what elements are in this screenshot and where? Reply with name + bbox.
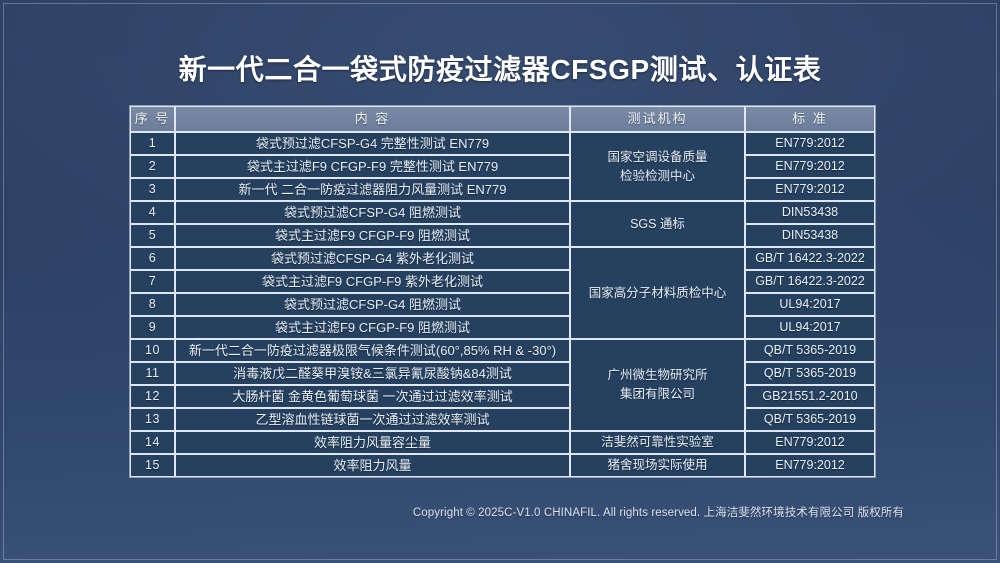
table-row: 14效率阻力风量容尘量洁斐然可靠性实验室EN779:2012 <box>130 431 875 454</box>
cell-test-institution: 猪舍现场实际使用 <box>570 454 745 477</box>
table-row: 5袋式主过滤F9 CFGP-F9 阻燃测试DIN53438 <box>130 224 875 247</box>
table-row: 4袋式预过滤CFSP-G4 阻燃测试SGS 通标DIN53438 <box>130 201 875 224</box>
table-row: 15效率阻力风量猪舍现场实际使用EN779:2012 <box>130 454 875 477</box>
cell-test-content: 袋式主过滤F9 CFGP-F9 紫外老化测试 <box>175 270 570 293</box>
cell-standard: QB/T 5365-2019 <box>745 362 875 385</box>
cell-row-number: 2 <box>130 155 175 178</box>
cell-standard: EN779:2012 <box>745 155 875 178</box>
cell-test-content: 大肠杆菌 金黄色葡萄球菌 一次通过过滤效率测试 <box>175 385 570 408</box>
cell-standard: EN779:2012 <box>745 431 875 454</box>
cell-row-number: 13 <box>130 408 175 431</box>
cell-standard: EN779:2012 <box>745 178 875 201</box>
institution-line-1: 国家高分子材料质检中心 <box>574 284 741 303</box>
cell-standard: EN779:2012 <box>745 132 875 155</box>
column-header-content: 内 容 <box>175 106 570 132</box>
table-row: 6袋式预过滤CFSP-G4 紫外老化测试国家高分子材料质检中心GB/T 1642… <box>130 247 875 270</box>
cell-row-number: 10 <box>130 339 175 362</box>
cell-row-number: 5 <box>130 224 175 247</box>
cell-row-number: 12 <box>130 385 175 408</box>
cell-test-institution: 洁斐然可靠性实验室 <box>570 431 745 454</box>
cell-test-institution: 国家空调设备质量检验检测中心 <box>570 132 745 201</box>
cell-test-content: 袋式预过滤CFSP-G4 阻燃测试 <box>175 201 570 224</box>
cell-row-number: 14 <box>130 431 175 454</box>
table-body: 1袋式预过滤CFSP-G4 完整性测试 EN779国家空调设备质量检验检测中心E… <box>130 132 875 477</box>
cell-test-institution: 国家高分子材料质检中心 <box>570 247 745 339</box>
cell-test-content: 袋式主过滤F9 CFGP-F9 阻燃测试 <box>175 224 570 247</box>
column-header-no: 序 号 <box>130 106 175 132</box>
cell-row-number: 7 <box>130 270 175 293</box>
institution-line-1: SGS 通标 <box>574 215 741 234</box>
table-row: 13乙型溶血性链球菌一次通过过滤效率测试QB/T 5365-2019 <box>130 408 875 431</box>
institution-line-1: 国家空调设备质量 <box>574 148 741 167</box>
cell-row-number: 4 <box>130 201 175 224</box>
cell-row-number: 6 <box>130 247 175 270</box>
cell-standard: QB/T 5365-2019 <box>745 339 875 362</box>
table-row: 2袋式主过滤F9 CFGP-F9 完整性测试 EN779EN779:2012 <box>130 155 875 178</box>
institution-line-1: 猪舍现场实际使用 <box>574 456 741 475</box>
cell-row-number: 15 <box>130 454 175 477</box>
cell-row-number: 8 <box>130 293 175 316</box>
institution-line-2: 检验检测中心 <box>574 167 741 186</box>
cell-test-institution: SGS 通标 <box>570 201 745 247</box>
cell-test-institution: 广州微生物研究所集团有限公司 <box>570 339 745 431</box>
cell-standard: GB/T 16422.3-2022 <box>745 247 875 270</box>
page-title: 新一代二合一袋式防疫过滤器CFSGP测试、认证表 <box>0 48 1000 88</box>
table-row: 10新一代二合一防疫过滤器极限气候条件测试(60°,85% RH & -30°)… <box>130 339 875 362</box>
slide-root: 新一代二合一袋式防疫过滤器CFSGP测试、认证表 序 号 内 容 测试机构 标 … <box>0 0 1000 563</box>
cell-row-number: 9 <box>130 316 175 339</box>
cell-row-number: 11 <box>130 362 175 385</box>
cell-test-content: 袋式主过滤F9 CFGP-F9 完整性测试 EN779 <box>175 155 570 178</box>
cell-test-content: 袋式预过滤CFSP-G4 紫外老化测试 <box>175 247 570 270</box>
cell-standard: QB/T 5365-2019 <box>745 408 875 431</box>
column-header-institution: 测试机构 <box>570 106 745 132</box>
cell-test-content: 效率阻力风量 <box>175 454 570 477</box>
cell-test-content: 效率阻力风量容尘量 <box>175 431 570 454</box>
cell-standard: UL94:2017 <box>745 293 875 316</box>
table-row: 11消毒液戊二醛葵甲溴铵&三氯异氰尿酸钠&84测试QB/T 5365-2019 <box>130 362 875 385</box>
cell-test-content: 袋式预过滤CFSP-G4 阻燃测试 <box>175 293 570 316</box>
table-row: 9袋式主过滤F9 CFGP-F9 阻燃测试UL94:2017 <box>130 316 875 339</box>
certification-table: 序 号 内 容 测试机构 标 准 1袋式预过滤CFSP-G4 完整性测试 EN7… <box>130 106 875 477</box>
cell-test-content: 新一代 二合一防疫过滤器阻力风量测试 EN779 <box>175 178 570 201</box>
cell-row-number: 1 <box>130 132 175 155</box>
cell-standard: DIN53438 <box>745 224 875 247</box>
cell-test-content: 袋式主过滤F9 CFGP-F9 阻燃测试 <box>175 316 570 339</box>
copyright-notice: Copyright © 2025C-V1.0 CHINAFIL. All rig… <box>413 504 904 520</box>
cell-row-number: 3 <box>130 178 175 201</box>
cell-standard: GB/T 16422.3-2022 <box>745 270 875 293</box>
institution-line-1: 广州微生物研究所 <box>574 366 741 385</box>
table-row: 7袋式主过滤F9 CFGP-F9 紫外老化测试GB/T 16422.3-2022 <box>130 270 875 293</box>
table-row: 8袋式预过滤CFSP-G4 阻燃测试UL94:2017 <box>130 293 875 316</box>
cell-test-content: 新一代二合一防疫过滤器极限气候条件测试(60°,85% RH & -30°) <box>175 339 570 362</box>
table-row: 3新一代 二合一防疫过滤器阻力风量测试 EN779EN779:2012 <box>130 178 875 201</box>
cell-test-content: 消毒液戊二醛葵甲溴铵&三氯异氰尿酸钠&84测试 <box>175 362 570 385</box>
column-header-standard: 标 准 <box>745 106 875 132</box>
certification-table-container: 序 号 内 容 测试机构 标 准 1袋式预过滤CFSP-G4 完整性测试 EN7… <box>130 106 875 477</box>
institution-line-1: 洁斐然可靠性实验室 <box>574 433 741 452</box>
cell-test-content: 袋式预过滤CFSP-G4 完整性测试 EN779 <box>175 132 570 155</box>
table-row: 1袋式预过滤CFSP-G4 完整性测试 EN779国家空调设备质量检验检测中心E… <box>130 132 875 155</box>
cell-standard: DIN53438 <box>745 201 875 224</box>
cell-test-content: 乙型溶血性链球菌一次通过过滤效率测试 <box>175 408 570 431</box>
table-header-row: 序 号 内 容 测试机构 标 准 <box>130 106 875 132</box>
table-header: 序 号 内 容 测试机构 标 准 <box>130 106 875 132</box>
institution-line-2: 集团有限公司 <box>574 385 741 404</box>
cell-standard: EN779:2012 <box>745 454 875 477</box>
cell-standard: UL94:2017 <box>745 316 875 339</box>
table-row: 12大肠杆菌 金黄色葡萄球菌 一次通过过滤效率测试GB21551.2-2010 <box>130 385 875 408</box>
cell-standard: GB21551.2-2010 <box>745 385 875 408</box>
